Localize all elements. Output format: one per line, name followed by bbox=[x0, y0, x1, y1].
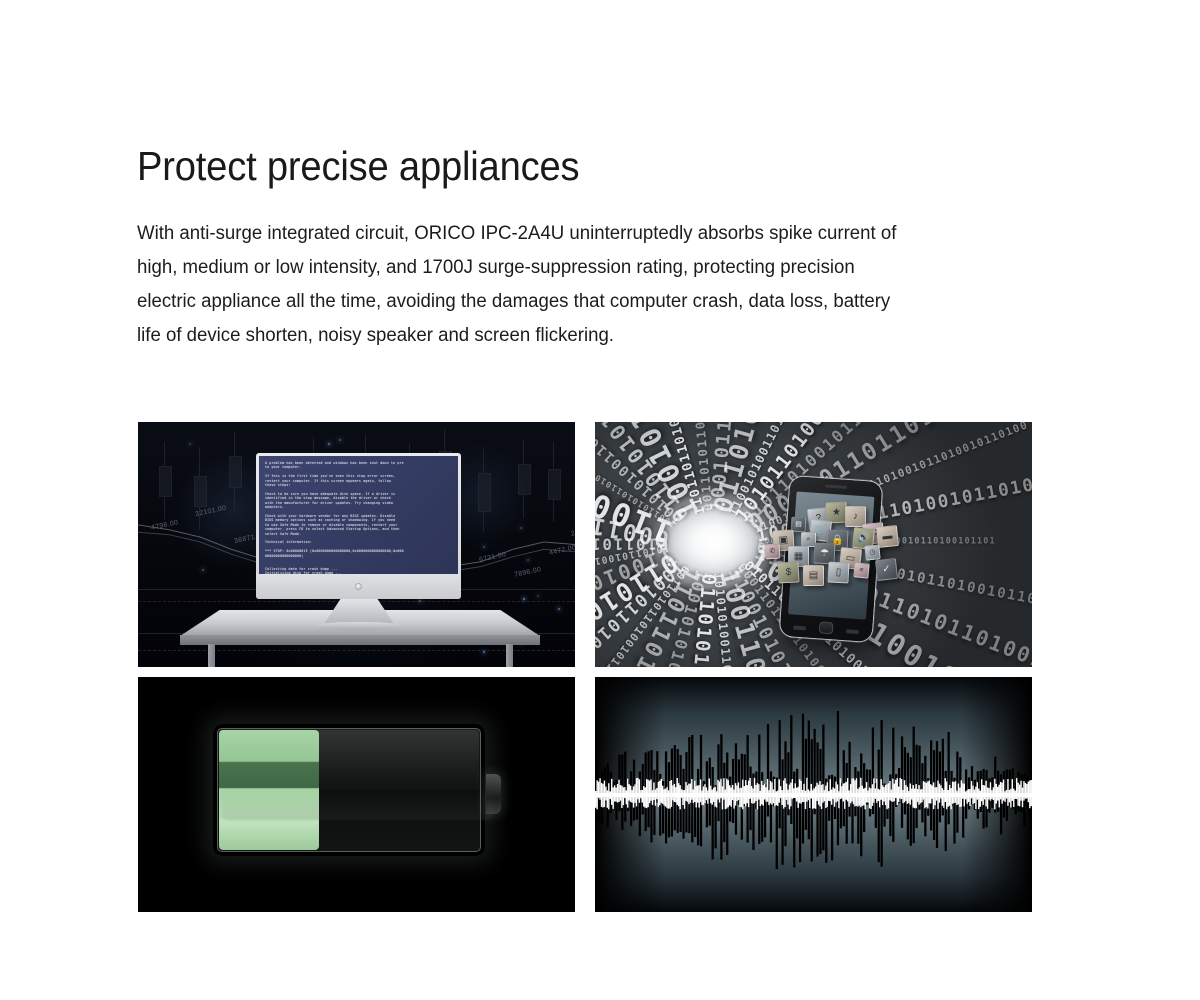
inbox-icon[interactable]: ▤ bbox=[803, 565, 824, 586]
dollar-icon[interactable]: $ bbox=[777, 561, 799, 583]
computer-monitor: A problem has been detected and windows … bbox=[256, 453, 461, 599]
page-title: Protect precise appliances bbox=[137, 144, 579, 189]
chart-glow-dot bbox=[483, 651, 485, 653]
monitor-logo-icon bbox=[355, 583, 362, 590]
phone-home-button[interactable] bbox=[819, 621, 834, 634]
document-icon[interactable]: ▯ bbox=[827, 561, 849, 583]
list-icon[interactable]: ≡ bbox=[853, 562, 869, 578]
monitor-stand-base bbox=[314, 622, 404, 630]
desk-leg bbox=[506, 644, 513, 667]
phone-speaker-icon bbox=[825, 484, 847, 489]
image-gallery: 4798.0032101.0036871.0032410.006721.0078… bbox=[138, 422, 1032, 912]
panel-battery-life[interactable] bbox=[138, 677, 575, 912]
desk-edge bbox=[180, 635, 540, 645]
bsod-screen: A problem has been detected and windows … bbox=[259, 456, 458, 574]
chart-value-label: 25 bbox=[570, 529, 575, 538]
page-description: With anti-surge integrated circuit, ORIC… bbox=[137, 216, 897, 353]
chart-glow-dot bbox=[537, 595, 539, 597]
battery-indicator bbox=[213, 724, 501, 856]
battery-reflection bbox=[221, 765, 493, 820]
chart-glow-dot bbox=[523, 598, 525, 600]
chart-glow-dot bbox=[520, 527, 522, 529]
panel-computer-crash[interactable]: 4798.0032101.0036871.0032410.006721.0078… bbox=[138, 422, 575, 667]
bsod-message: A problem has been detected and windows … bbox=[265, 461, 452, 574]
panel-noisy-speaker[interactable] bbox=[595, 677, 1032, 912]
bag-icon[interactable]: ▬ bbox=[876, 525, 899, 548]
phone-right-button bbox=[846, 629, 859, 634]
waveform-center-band bbox=[595, 793, 1032, 797]
chart-glow-dot bbox=[419, 600, 421, 602]
phone-icon[interactable]: ✆ bbox=[765, 544, 781, 560]
chart-glow-dot bbox=[189, 443, 191, 445]
check-icon[interactable]: ✓ bbox=[875, 558, 898, 581]
clock-icon[interactable]: ◷ bbox=[864, 544, 880, 560]
monitor-bezel bbox=[256, 574, 461, 599]
phone-left-button bbox=[793, 626, 806, 631]
panel-data-loss[interactable]: 1001011010100110101101001011010010110101… bbox=[595, 422, 1032, 667]
desk-leg bbox=[208, 644, 215, 667]
